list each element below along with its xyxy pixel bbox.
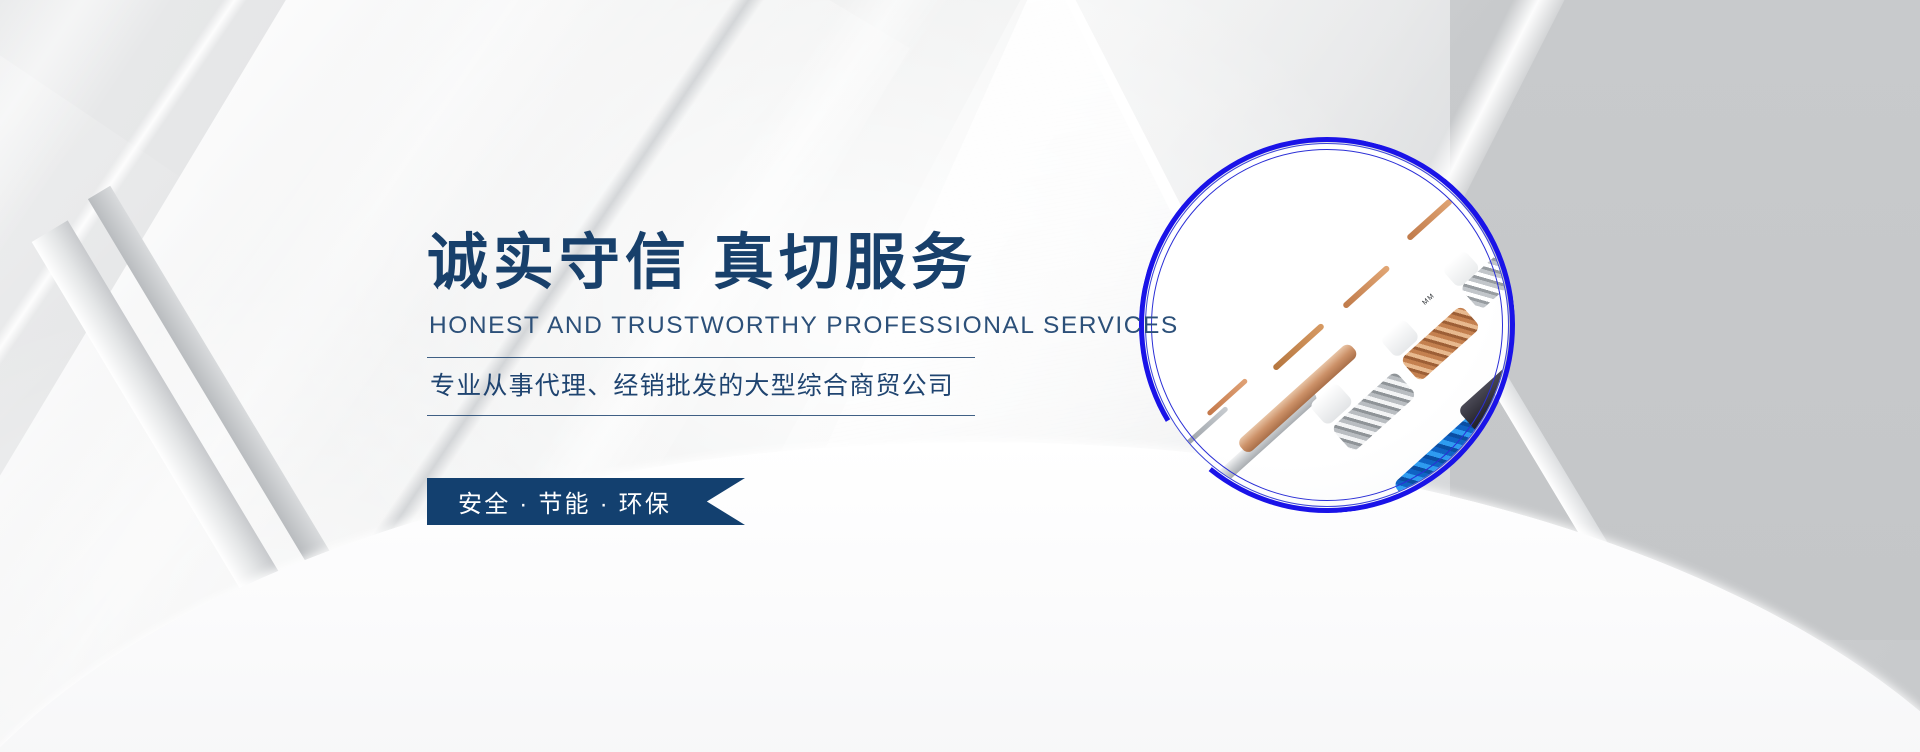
divider-bottom bbox=[427, 415, 975, 416]
subtitle-english: HONEST AND TRUSTWORTHY PROFESSIONAL SERV… bbox=[429, 312, 1047, 340]
page-title: 诚实守信 真切服务 bbox=[427, 232, 1047, 293]
divider-top bbox=[427, 357, 975, 358]
hero-copy: 诚实守信 真切服务 HONEST AND TRUSTWORTHY PROFESS… bbox=[427, 232, 1047, 416]
feature-ribbon: 安全 · 节能 · 环保 bbox=[427, 478, 745, 525]
hero-banner: MM 诚实守信 真切服务 HONEST AND TRUSTWORTHY PROF… bbox=[0, 0, 1920, 752]
ribbon-label: 安全 · 节能 · 环保 bbox=[427, 478, 745, 525]
subtitle-chinese: 专业从事代理、经销批发的大型综合商贸公司 bbox=[427, 358, 975, 415]
product-medallion: MM bbox=[1139, 137, 1515, 513]
subtitle-rules: 专业从事代理、经销批发的大型综合商贸公司 bbox=[427, 357, 975, 416]
